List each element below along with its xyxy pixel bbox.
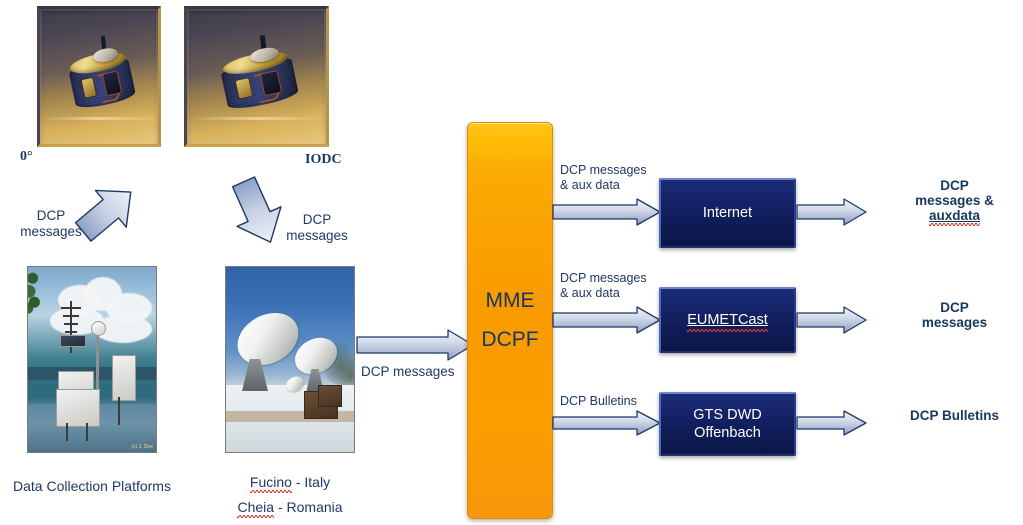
row-eumetcast-out-arrow bbox=[796, 306, 868, 334]
ingest-arrow bbox=[356, 329, 474, 361]
row-gts-out-label: DCP Bulletins bbox=[886, 408, 1023, 423]
radome bbox=[91, 321, 106, 336]
mme-dcpf-line1: MME bbox=[468, 289, 552, 313]
ground-station-caption-line1: Fucino - Italy bbox=[216, 474, 364, 490]
spellcheck-cheia: Cheia bbox=[237, 499, 274, 515]
row-eumetcast-in-arrow bbox=[552, 306, 662, 334]
row-internet-out-label: DCP messages & auxdata bbox=[886, 178, 1023, 223]
support-leg bbox=[66, 423, 68, 441]
equipment-crate bbox=[318, 385, 342, 407]
eumetcast-box[interactable]: EUMETCast bbox=[659, 287, 796, 353]
internet-box-label: Internet bbox=[703, 204, 752, 222]
row-eumetcast-out-label: DCP messages bbox=[886, 300, 1023, 330]
gts-box[interactable]: GTS DWD Offenbach bbox=[659, 392, 796, 456]
row-eumetcast-in-label: DCP messages & aux data bbox=[560, 271, 647, 301]
diagram-canvas: 0° IODC D bbox=[0, 0, 1023, 525]
horizon-band bbox=[40, 117, 158, 120]
satellite-label-0deg: 0° bbox=[20, 149, 33, 166]
yagi-element bbox=[65, 331, 77, 333]
support-leg bbox=[86, 423, 88, 441]
satellite-label-iodc: IODC bbox=[305, 152, 342, 169]
out-line-1: DCP bbox=[886, 178, 1023, 193]
ground-station-caption-line2: Cheia - Romania bbox=[216, 499, 364, 515]
msg-satellite-graphic bbox=[65, 44, 137, 115]
dome-pole bbox=[96, 329, 99, 393]
out-line-1: DCP bbox=[886, 300, 1023, 315]
out-line-2: messages bbox=[886, 315, 1023, 330]
instrument-enclosure bbox=[112, 355, 136, 401]
row-internet-in-label: DCP messages & aux data bbox=[560, 163, 647, 193]
spellcheck-auxdata: auxdata bbox=[929, 208, 980, 223]
ingest-arrow-label: DCP messages bbox=[361, 364, 455, 380]
eumetcast-box-label: EUMETCast bbox=[687, 311, 768, 329]
msg-satellite-graphic bbox=[218, 43, 301, 116]
solar-panel bbox=[60, 335, 86, 347]
dcp-station-photo: (c) J. Doe bbox=[27, 266, 157, 453]
dcp-downlink-label-iodc: DCP messages bbox=[274, 212, 360, 244]
gts-box-label: GTS DWD Offenbach bbox=[661, 406, 794, 442]
row-internet-out-arrow bbox=[796, 198, 868, 226]
horizon-band bbox=[187, 117, 326, 120]
row-gts-out-arrow bbox=[796, 410, 868, 436]
spellcheck-fucino: Fucino bbox=[250, 474, 292, 490]
yagi-element bbox=[63, 315, 79, 317]
yagi-element bbox=[61, 307, 81, 309]
out-line-3: auxdata bbox=[886, 208, 1023, 223]
mme-dcpf-line2: DCPF bbox=[468, 328, 552, 352]
row-gts-in-arrow bbox=[552, 410, 662, 436]
spellcheck-eumetcast: EUMETCast bbox=[687, 311, 768, 329]
photo-credit: (c) J. Doe bbox=[131, 444, 153, 450]
satellite-thumbnail-iodc bbox=[184, 6, 329, 147]
satellite-thumbnail-0deg bbox=[37, 6, 161, 147]
out-line-1: DCP Bulletins bbox=[886, 408, 1023, 423]
dcp-uplink-label-0deg: DCP messages bbox=[8, 208, 94, 240]
row-gts-in-label: DCP Bulletins bbox=[560, 394, 637, 409]
instrument-cabinet-main bbox=[56, 389, 100, 427]
dcp-station-caption: Data Collection Platforms bbox=[0, 478, 184, 494]
out-line-2: messages & bbox=[886, 193, 1023, 208]
support-leg bbox=[118, 397, 120, 425]
mme-dcpf-block[interactable]: MME DCPF bbox=[467, 122, 553, 519]
internet-box[interactable]: Internet bbox=[659, 178, 796, 248]
row-internet-in-arrow bbox=[552, 198, 662, 226]
yagi-element bbox=[64, 323, 78, 325]
ground-station-photo bbox=[225, 266, 355, 453]
